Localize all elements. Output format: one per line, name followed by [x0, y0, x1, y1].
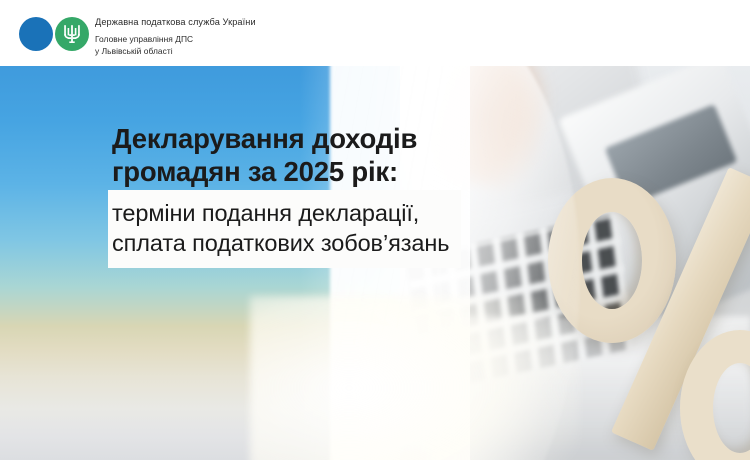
dept-line-2: у Львівській області — [95, 46, 425, 58]
tryzub-icon — [63, 24, 81, 44]
banner-text-block: Декларування доходів громадян за 2025 рі… — [108, 122, 461, 268]
banner-page: Державна податкова служба України Головн… — [0, 0, 750, 460]
dps-logo[interactable] — [19, 17, 91, 51]
dept-name: Головне управління ДПС у Львівській обла… — [95, 34, 425, 57]
org-title: Державна податкова служба України — [95, 16, 425, 29]
banner-title-line-1: Декларування доходів — [112, 122, 461, 155]
dept-line-1: Головне управління ДПС — [95, 34, 425, 46]
header-text-group: Державна податкова служба України Головн… — [95, 16, 425, 57]
banner-subtitle-line-2: сплата податкових зобов’язань — [112, 228, 449, 258]
banner-subtitle-line-1: терміни подання декларації, — [112, 198, 449, 228]
page-curve-glow — [250, 296, 580, 460]
logo-blue-circle-icon — [19, 17, 53, 51]
banner-title: Декларування доходів громадян за 2025 рі… — [108, 122, 461, 188]
banner-region: Декларування доходів громадян за 2025 рі… — [0, 66, 750, 460]
header-bar: Державна податкова служба України Головн… — [0, 0, 750, 66]
banner-subtitle-box: терміни подання декларації, сплата подат… — [108, 190, 461, 268]
banner-title-line-2: громадян за 2025 рік: — [112, 155, 461, 188]
